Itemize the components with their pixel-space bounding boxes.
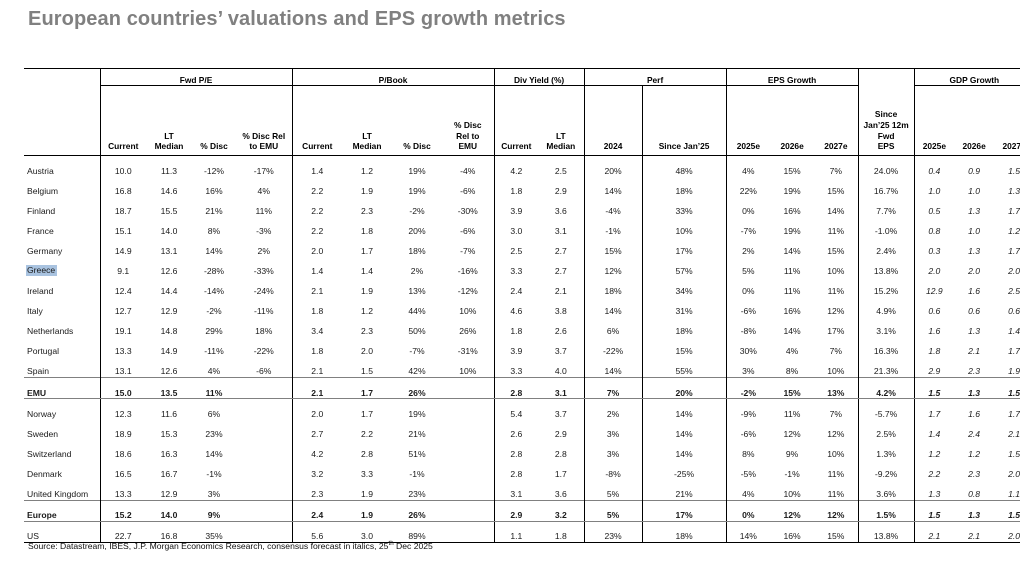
table-cell-perf_since_jan25[interactable]: 55% bbox=[642, 357, 726, 378]
table-cell-gdp_2027e[interactable]: 2.1 bbox=[994, 419, 1020, 439]
table-row[interactable]: Norway12.311.66%2.01.719%5.43.72%14%-9%1… bbox=[24, 399, 1020, 420]
table-cell-pe_current[interactable]: 13.3 bbox=[100, 480, 146, 501]
table-cell-perf_since_jan25[interactable]: 17% bbox=[642, 500, 726, 521]
table-cell-pb_disc[interactable]: 21% bbox=[392, 419, 442, 439]
table-cell-eps_2026e[interactable]: 16% bbox=[770, 297, 814, 317]
table-cell-eps_since_jan25_12m_fwd[interactable]: -1.0% bbox=[858, 216, 914, 236]
table-cell-pe_lt_median[interactable]: 12.9 bbox=[146, 480, 192, 501]
table-cell-perf_2024[interactable]: 3% bbox=[584, 439, 642, 459]
table-cell-gdp_2026e[interactable]: 1.3 bbox=[954, 500, 994, 521]
table-cell-pe_disc_rel_emu[interactable]: 2% bbox=[236, 236, 292, 256]
table-row[interactable]: Sweden18.915.323%2.72.221%2.62.93%14%-6%… bbox=[24, 419, 1020, 439]
table-cell-pb_disc[interactable]: 26% bbox=[392, 378, 442, 399]
table-cell-dy_lt_median[interactable]: 2.9 bbox=[538, 176, 584, 196]
table-cell-pb_current[interactable]: 2.1 bbox=[292, 357, 342, 378]
table-cell-pb_lt_median[interactable]: 1.8 bbox=[342, 216, 392, 236]
table-cell-eps_since_jan25_12m_fwd[interactable]: 1.5% bbox=[858, 500, 914, 521]
table-row[interactable]: Netherlands19.114.829%18%3.42.350%26%1.8… bbox=[24, 317, 1020, 337]
table-cell-pe_disc_rel_emu[interactable]: 18% bbox=[236, 317, 292, 337]
table-cell-gdp_2027e[interactable]: 1.7 bbox=[994, 337, 1020, 357]
table-cell-gdp_2025e[interactable]: 1.6 bbox=[914, 317, 954, 337]
table-cell-eps_2026e[interactable]: 16% bbox=[770, 521, 814, 542]
table-cell-gdp_2027e[interactable]: 1.1 bbox=[994, 480, 1020, 501]
table-cell-perf_2024[interactable]: 5% bbox=[584, 480, 642, 501]
table-cell-pe_disc[interactable]: -12% bbox=[192, 156, 236, 177]
table-cell-eps_2027e[interactable]: 7% bbox=[814, 156, 858, 177]
table-cell-pb_current[interactable]: 2.2 bbox=[292, 216, 342, 236]
table-cell-pb_current[interactable]: 1.4 bbox=[292, 156, 342, 177]
table-cell-pb_disc_rel_emu[interactable] bbox=[442, 378, 494, 399]
table-cell-eps_2027e[interactable]: 15% bbox=[814, 521, 858, 542]
table-cell-dy_current[interactable]: 4.6 bbox=[494, 297, 538, 317]
table-cell-dy_lt_median[interactable]: 2.8 bbox=[538, 439, 584, 459]
table-cell-pb_lt_median[interactable]: 1.5 bbox=[342, 357, 392, 378]
table-cell-eps_since_jan25_12m_fwd[interactable]: 2.5% bbox=[858, 419, 914, 439]
table-cell-gdp_2026e[interactable]: 2.3 bbox=[954, 459, 994, 479]
table-cell-gdp_2027e[interactable]: 2.0 bbox=[994, 459, 1020, 479]
table-row[interactable]: EMU15.013.511%2.11.726%2.83.17%20%-2%15%… bbox=[24, 378, 1020, 399]
table-cell-pe_current[interactable]: 13.1 bbox=[100, 357, 146, 378]
table-cell-gdp_2025e[interactable]: 0.3 bbox=[914, 236, 954, 256]
table-cell-pb_disc[interactable]: 51% bbox=[392, 439, 442, 459]
table-cell-pe_disc_rel_emu[interactable]: -17% bbox=[236, 156, 292, 177]
table-cell-dy_lt_median[interactable]: 1.8 bbox=[538, 521, 584, 542]
table-cell-pb_current[interactable]: 3.2 bbox=[292, 459, 342, 479]
table-cell-pe_disc_rel_emu[interactable] bbox=[236, 500, 292, 521]
table-cell-pe_disc[interactable]: 29% bbox=[192, 317, 236, 337]
table-cell-eps_2026e[interactable]: -1% bbox=[770, 459, 814, 479]
table-cell-pb_disc_rel_emu[interactable]: -31% bbox=[442, 337, 494, 357]
table-cell-eps_since_jan25_12m_fwd[interactable]: 16.7% bbox=[858, 176, 914, 196]
table-cell-gdp_2026e[interactable]: 0.6 bbox=[954, 297, 994, 317]
table-cell-pb_disc[interactable]: -2% bbox=[392, 196, 442, 216]
table-cell-gdp_2026e[interactable]: 1.0 bbox=[954, 216, 994, 236]
table-cell-gdp_2025e[interactable]: 1.5 bbox=[914, 378, 954, 399]
table-cell-dy_lt_median[interactable]: 3.1 bbox=[538, 216, 584, 236]
table-cell-eps_2027e[interactable]: 13% bbox=[814, 378, 858, 399]
table-cell-perf_2024[interactable]: 5% bbox=[584, 500, 642, 521]
table-cell-dy_current[interactable]: 2.5 bbox=[494, 236, 538, 256]
table-cell-eps_2025e[interactable]: -2% bbox=[726, 378, 770, 399]
table-cell-pb_disc[interactable]: 20% bbox=[392, 216, 442, 236]
table-cell-eps_since_jan25_12m_fwd[interactable]: 3.6% bbox=[858, 480, 914, 501]
table-cell-eps_2027e[interactable]: 11% bbox=[814, 459, 858, 479]
table-cell-pb_disc[interactable]: 50% bbox=[392, 317, 442, 337]
table-cell-pb_lt_median[interactable]: 1.9 bbox=[342, 176, 392, 196]
table-cell-dy_lt_median[interactable]: 2.5 bbox=[538, 156, 584, 177]
table-cell-pb_current[interactable]: 2.1 bbox=[292, 277, 342, 297]
table-cell-eps_2025e[interactable]: 4% bbox=[726, 156, 770, 177]
table-row[interactable]: Ireland12.414.4-14%-24%2.11.913%-12%2.42… bbox=[24, 277, 1020, 297]
table-cell-dy_current[interactable]: 5.4 bbox=[494, 399, 538, 420]
table-cell-pe_disc_rel_emu[interactable] bbox=[236, 439, 292, 459]
table-cell-pe_disc_rel_emu[interactable]: -22% bbox=[236, 337, 292, 357]
row-country-label[interactable]: EMU bbox=[24, 378, 100, 399]
table-cell-gdp_2025e[interactable]: 0.4 bbox=[914, 156, 954, 177]
table-cell-eps_2027e[interactable]: 11% bbox=[814, 216, 858, 236]
table-cell-gdp_2027e[interactable]: 2.5 bbox=[994, 277, 1020, 297]
table-row[interactable]: Germany14.913.114%2%2.01.718%-7%2.52.715… bbox=[24, 236, 1020, 256]
table-cell-pb_current[interactable]: 2.4 bbox=[292, 500, 342, 521]
table-cell-eps_2026e[interactable]: 12% bbox=[770, 419, 814, 439]
table-cell-gdp_2025e[interactable]: 1.3 bbox=[914, 480, 954, 501]
table-cell-pb_lt_median[interactable]: 1.4 bbox=[342, 256, 392, 276]
table-cell-gdp_2026e[interactable]: 2.1 bbox=[954, 337, 994, 357]
table-cell-pe_disc_rel_emu[interactable] bbox=[236, 419, 292, 439]
table-cell-pe_current[interactable]: 16.8 bbox=[100, 176, 146, 196]
table-cell-eps_2025e[interactable]: 0% bbox=[726, 277, 770, 297]
table-cell-pb_current[interactable]: 3.4 bbox=[292, 317, 342, 337]
table-cell-dy_current[interactable]: 3.3 bbox=[494, 357, 538, 378]
table-cell-dy_current[interactable]: 2.8 bbox=[494, 459, 538, 479]
table-cell-eps_2025e[interactable]: 14% bbox=[726, 521, 770, 542]
table-cell-gdp_2025e[interactable]: 1.5 bbox=[914, 500, 954, 521]
table-cell-eps_2027e[interactable]: 10% bbox=[814, 256, 858, 276]
table-cell-perf_2024[interactable]: 23% bbox=[584, 521, 642, 542]
table-cell-dy_current[interactable]: 1.8 bbox=[494, 317, 538, 337]
table-cell-pb_lt_median[interactable]: 1.9 bbox=[342, 277, 392, 297]
table-cell-gdp_2025e[interactable]: 0.8 bbox=[914, 216, 954, 236]
table-cell-pb_lt_median[interactable]: 1.9 bbox=[342, 480, 392, 501]
table-cell-dy_current[interactable]: 2.8 bbox=[494, 439, 538, 459]
table-cell-gdp_2025e[interactable]: 1.4 bbox=[914, 419, 954, 439]
table-cell-pb_disc[interactable]: 2% bbox=[392, 256, 442, 276]
table-cell-pe_lt_median[interactable]: 12.6 bbox=[146, 357, 192, 378]
table-cell-pb_disc_rel_emu[interactable] bbox=[442, 521, 494, 542]
table-cell-eps_2025e[interactable]: -5% bbox=[726, 459, 770, 479]
table-cell-gdp_2027e[interactable]: 1.7 bbox=[994, 399, 1020, 420]
table-cell-gdp_2027e[interactable]: 2.0 bbox=[994, 521, 1020, 542]
table-cell-pe_disc[interactable]: 23% bbox=[192, 419, 236, 439]
table-cell-eps_since_jan25_12m_fwd[interactable]: -9.2% bbox=[858, 459, 914, 479]
table-cell-pe_disc_rel_emu[interactable] bbox=[236, 399, 292, 420]
table-cell-eps_2026e[interactable]: 14% bbox=[770, 236, 814, 256]
table-cell-pe_disc[interactable]: -11% bbox=[192, 337, 236, 357]
table-cell-gdp_2026e[interactable]: 2.1 bbox=[954, 521, 994, 542]
table-cell-gdp_2027e[interactable]: 1.5 bbox=[994, 156, 1020, 177]
table-cell-pb_current[interactable]: 1.8 bbox=[292, 297, 342, 317]
table-cell-pb_disc_rel_emu[interactable]: -7% bbox=[442, 236, 494, 256]
table-cell-perf_2024[interactable]: 20% bbox=[584, 156, 642, 177]
table-cell-eps_2026e[interactable]: 9% bbox=[770, 439, 814, 459]
table-cell-gdp_2026e[interactable]: 1.6 bbox=[954, 399, 994, 420]
table-cell-gdp_2026e[interactable]: 1.3 bbox=[954, 196, 994, 216]
selected-cell-highlight[interactable]: Greece bbox=[26, 265, 57, 276]
table-cell-eps_2025e[interactable]: 22% bbox=[726, 176, 770, 196]
table-cell-pe_disc[interactable]: -2% bbox=[192, 297, 236, 317]
table-cell-perf_2024[interactable]: 2% bbox=[584, 399, 642, 420]
table-cell-dy_current[interactable]: 3.1 bbox=[494, 480, 538, 501]
row-country-label[interactable]: Austria bbox=[24, 156, 100, 177]
table-cell-perf_since_jan25[interactable]: -25% bbox=[642, 459, 726, 479]
table-cell-pe_current[interactable]: 12.3 bbox=[100, 399, 146, 420]
table-row[interactable]: Belgium16.814.616%4%2.21.919%-6%1.82.914… bbox=[24, 176, 1020, 196]
table-cell-dy_current[interactable]: 2.4 bbox=[494, 277, 538, 297]
table-cell-gdp_2026e[interactable]: 1.2 bbox=[954, 439, 994, 459]
table-cell-pe_lt_median[interactable]: 14.6 bbox=[146, 176, 192, 196]
table-cell-eps_2025e[interactable]: -6% bbox=[726, 419, 770, 439]
table-cell-eps_2027e[interactable]: 11% bbox=[814, 480, 858, 501]
table-cell-perf_2024[interactable]: 18% bbox=[584, 277, 642, 297]
table-cell-pe_disc[interactable]: 14% bbox=[192, 439, 236, 459]
table-cell-gdp_2025e[interactable]: 12.9 bbox=[914, 277, 954, 297]
table-cell-pe_lt_median[interactable]: 11.6 bbox=[146, 399, 192, 420]
table-cell-eps_since_jan25_12m_fwd[interactable]: 13.8% bbox=[858, 521, 914, 542]
table-cell-pb_disc[interactable]: 44% bbox=[392, 297, 442, 317]
row-country-label[interactable]: Netherlands bbox=[24, 317, 100, 337]
table-cell-pb_current[interactable]: 2.1 bbox=[292, 378, 342, 399]
table-cell-perf_2024[interactable]: -22% bbox=[584, 337, 642, 357]
table-cell-pe_lt_median[interactable]: 11.3 bbox=[146, 156, 192, 177]
table-cell-pb_disc[interactable]: 19% bbox=[392, 399, 442, 420]
table-cell-pb_disc[interactable]: 18% bbox=[392, 236, 442, 256]
table-cell-perf_since_jan25[interactable]: 18% bbox=[642, 176, 726, 196]
table-cell-dy_current[interactable]: 3.0 bbox=[494, 216, 538, 236]
table-cell-pb_current[interactable]: 1.8 bbox=[292, 337, 342, 357]
table-cell-eps_2025e[interactable]: -8% bbox=[726, 317, 770, 337]
table-cell-pb_disc_rel_emu[interactable]: 26% bbox=[442, 317, 494, 337]
table-cell-dy_lt_median[interactable]: 2.7 bbox=[538, 256, 584, 276]
table-cell-pe_current[interactable]: 10.0 bbox=[100, 156, 146, 177]
table-cell-eps_2027e[interactable]: 12% bbox=[814, 419, 858, 439]
table-cell-eps_since_jan25_12m_fwd[interactable]: 13.8% bbox=[858, 256, 914, 276]
table-cell-gdp_2027e[interactable]: 1.9 bbox=[994, 357, 1020, 378]
table-cell-pb_disc_rel_emu[interactable]: 10% bbox=[442, 357, 494, 378]
table-row[interactable]: Europe15.214.09%2.41.926%2.93.25%17%0%12… bbox=[24, 500, 1020, 521]
row-country-label[interactable]: Sweden bbox=[24, 419, 100, 439]
table-cell-perf_since_jan25[interactable]: 20% bbox=[642, 378, 726, 399]
table-cell-perf_since_jan25[interactable]: 14% bbox=[642, 439, 726, 459]
table-cell-perf_since_jan25[interactable]: 48% bbox=[642, 156, 726, 177]
table-cell-dy_current[interactable]: 2.9 bbox=[494, 500, 538, 521]
table-cell-perf_since_jan25[interactable]: 14% bbox=[642, 419, 726, 439]
table-cell-pb_lt_median[interactable]: 2.0 bbox=[342, 337, 392, 357]
table-cell-pe_lt_median[interactable]: 16.3 bbox=[146, 439, 192, 459]
table-cell-pb_lt_median[interactable]: 1.2 bbox=[342, 297, 392, 317]
table-cell-pe_lt_median[interactable]: 15.3 bbox=[146, 419, 192, 439]
row-country-label[interactable]: France bbox=[24, 216, 100, 236]
table-cell-dy_lt_median[interactable]: 2.9 bbox=[538, 419, 584, 439]
table-cell-pe_disc_rel_emu[interactable] bbox=[236, 378, 292, 399]
table-cell-pb_current[interactable]: 2.3 bbox=[292, 480, 342, 501]
table-cell-gdp_2026e[interactable]: 1.3 bbox=[954, 317, 994, 337]
table-cell-pb_disc[interactable]: 13% bbox=[392, 277, 442, 297]
table-cell-eps_2025e[interactable]: -6% bbox=[726, 297, 770, 317]
table-cell-gdp_2026e[interactable]: 0.9 bbox=[954, 156, 994, 177]
table-cell-eps_since_jan25_12m_fwd[interactable]: 24.0% bbox=[858, 156, 914, 177]
table-cell-pb_current[interactable]: 1.4 bbox=[292, 256, 342, 276]
table-cell-eps_since_jan25_12m_fwd[interactable]: 15.2% bbox=[858, 277, 914, 297]
table-cell-pe_disc[interactable]: 9% bbox=[192, 500, 236, 521]
table-cell-gdp_2027e[interactable]: 1.7 bbox=[994, 236, 1020, 256]
row-country-label[interactable]: Germany bbox=[24, 236, 100, 256]
table-cell-perf_2024[interactable]: 14% bbox=[584, 357, 642, 378]
table-cell-dy_lt_median[interactable]: 3.7 bbox=[538, 399, 584, 420]
table-cell-gdp_2026e[interactable]: 1.6 bbox=[954, 277, 994, 297]
row-country-label[interactable]: Portugal bbox=[24, 337, 100, 357]
table-cell-pb_disc_rel_emu[interactable]: -4% bbox=[442, 156, 494, 177]
table-cell-dy_lt_median[interactable]: 3.2 bbox=[538, 500, 584, 521]
table-cell-pb_current[interactable]: 2.0 bbox=[292, 236, 342, 256]
table-cell-dy_lt_median[interactable]: 2.7 bbox=[538, 236, 584, 256]
table-cell-eps_2027e[interactable]: 7% bbox=[814, 399, 858, 420]
table-cell-gdp_2027e[interactable]: 2.0 bbox=[994, 256, 1020, 276]
table-cell-gdp_2026e[interactable]: 2.4 bbox=[954, 419, 994, 439]
table-cell-pb_disc[interactable]: -7% bbox=[392, 337, 442, 357]
table-cell-pe_disc[interactable]: 4% bbox=[192, 357, 236, 378]
table-cell-pb_disc[interactable]: 19% bbox=[392, 176, 442, 196]
table-cell-dy_lt_median[interactable]: 2.6 bbox=[538, 317, 584, 337]
table-cell-dy_current[interactable]: 3.9 bbox=[494, 196, 538, 216]
table-cell-pe_disc[interactable]: 11% bbox=[192, 378, 236, 399]
table-cell-gdp_2027e[interactable]: 1.5 bbox=[994, 378, 1020, 399]
table-cell-pe_disc_rel_emu[interactable]: 4% bbox=[236, 176, 292, 196]
table-cell-pb_disc[interactable]: 26% bbox=[392, 500, 442, 521]
table-cell-pb_lt_median[interactable]: 1.9 bbox=[342, 500, 392, 521]
table-cell-gdp_2025e[interactable]: 0.5 bbox=[914, 196, 954, 216]
table-cell-perf_since_jan25[interactable]: 31% bbox=[642, 297, 726, 317]
table-cell-eps_2025e[interactable]: -7% bbox=[726, 216, 770, 236]
table-cell-eps_2026e[interactable]: 12% bbox=[770, 500, 814, 521]
table-cell-pb_disc_rel_emu[interactable]: -6% bbox=[442, 176, 494, 196]
table-cell-gdp_2025e[interactable]: 1.0 bbox=[914, 176, 954, 196]
table-cell-eps_2027e[interactable]: 7% bbox=[814, 337, 858, 357]
table-cell-pe_disc_rel_emu[interactable]: -6% bbox=[236, 357, 292, 378]
table-cell-eps_2026e[interactable]: 8% bbox=[770, 357, 814, 378]
table-cell-perf_2024[interactable]: 14% bbox=[584, 297, 642, 317]
table-cell-pb_disc[interactable]: 42% bbox=[392, 357, 442, 378]
table-cell-perf_2024[interactable]: 14% bbox=[584, 176, 642, 196]
table-cell-perf_since_jan25[interactable]: 57% bbox=[642, 256, 726, 276]
table-row[interactable]: Austria10.011.3-12%-17%1.41.219%-4%4.22.… bbox=[24, 156, 1020, 177]
table-cell-eps_2026e[interactable]: 14% bbox=[770, 317, 814, 337]
table-cell-gdp_2027e[interactable]: 1.5 bbox=[994, 439, 1020, 459]
table-cell-eps_2027e[interactable]: 15% bbox=[814, 176, 858, 196]
row-country-label[interactable]: Denmark bbox=[24, 459, 100, 479]
table-cell-perf_since_jan25[interactable]: 18% bbox=[642, 521, 726, 542]
table-row[interactable]: Portugal13.314.9-11%-22%1.82.0-7%-31%3.9… bbox=[24, 337, 1020, 357]
table-cell-eps_2025e[interactable]: 4% bbox=[726, 480, 770, 501]
table-cell-dy_current[interactable]: 1.1 bbox=[494, 521, 538, 542]
table-cell-pb_lt_median[interactable]: 1.7 bbox=[342, 378, 392, 399]
table-cell-gdp_2027e[interactable]: 1.2 bbox=[994, 216, 1020, 236]
table-cell-pe_lt_median[interactable]: 16.7 bbox=[146, 459, 192, 479]
table-cell-eps_2027e[interactable]: 10% bbox=[814, 439, 858, 459]
table-cell-perf_2024[interactable]: 15% bbox=[584, 236, 642, 256]
table-cell-pe_current[interactable]: 14.9 bbox=[100, 236, 146, 256]
table-cell-gdp_2025e[interactable]: 2.2 bbox=[914, 459, 954, 479]
table-cell-pe_current[interactable]: 9.1 bbox=[100, 256, 146, 276]
table-cell-gdp_2027e[interactable]: 1.7 bbox=[994, 196, 1020, 216]
table-cell-eps_2025e[interactable]: 0% bbox=[726, 500, 770, 521]
row-country-label[interactable]: Europe bbox=[24, 500, 100, 521]
table-cell-perf_2024[interactable]: -4% bbox=[584, 196, 642, 216]
table-cell-pe_disc_rel_emu[interactable] bbox=[236, 480, 292, 501]
table-cell-gdp_2026e[interactable]: 2.3 bbox=[954, 357, 994, 378]
table-cell-gdp_2026e[interactable]: 0.8 bbox=[954, 480, 994, 501]
table-cell-perf_since_jan25[interactable]: 18% bbox=[642, 317, 726, 337]
table-cell-pb_lt_median[interactable]: 2.3 bbox=[342, 317, 392, 337]
table-cell-eps_2025e[interactable]: 3% bbox=[726, 357, 770, 378]
table-cell-eps_2026e[interactable]: 11% bbox=[770, 399, 814, 420]
table-cell-dy_current[interactable]: 1.8 bbox=[494, 176, 538, 196]
table-cell-perf_2024[interactable]: 12% bbox=[584, 256, 642, 276]
table-cell-pe_lt_median[interactable]: 14.0 bbox=[146, 500, 192, 521]
table-cell-pe_current[interactable]: 12.4 bbox=[100, 277, 146, 297]
table-cell-pb_disc_rel_emu[interactable] bbox=[442, 459, 494, 479]
row-country-label[interactable]: Ireland bbox=[24, 277, 100, 297]
table-cell-pb_disc[interactable]: 23% bbox=[392, 480, 442, 501]
table-cell-eps_2026e[interactable]: 16% bbox=[770, 196, 814, 216]
table-cell-eps_2026e[interactable]: 10% bbox=[770, 480, 814, 501]
table-cell-eps_since_jan25_12m_fwd[interactable]: 7.7% bbox=[858, 196, 914, 216]
table-cell-dy_lt_median[interactable]: 2.1 bbox=[538, 277, 584, 297]
table-cell-eps_2026e[interactable]: 15% bbox=[770, 378, 814, 399]
table-cell-pb_current[interactable]: 2.0 bbox=[292, 399, 342, 420]
table-cell-eps_since_jan25_12m_fwd[interactable]: 16.3% bbox=[858, 337, 914, 357]
table-cell-perf_since_jan25[interactable]: 10% bbox=[642, 216, 726, 236]
table-cell-pb_lt_median[interactable]: 2.2 bbox=[342, 419, 392, 439]
table-cell-eps_2026e[interactable]: 15% bbox=[770, 156, 814, 177]
table-cell-eps_2025e[interactable]: 2% bbox=[726, 236, 770, 256]
table-cell-pe_current[interactable]: 15.2 bbox=[100, 500, 146, 521]
table-cell-eps_since_jan25_12m_fwd[interactable]: 3.1% bbox=[858, 317, 914, 337]
row-country-label[interactable]: Switzerland bbox=[24, 439, 100, 459]
table-cell-eps_2026e[interactable]: 19% bbox=[770, 176, 814, 196]
table-row[interactable]: Switzerland18.616.314%4.22.851%2.82.83%1… bbox=[24, 439, 1020, 459]
table-cell-dy_current[interactable]: 2.6 bbox=[494, 419, 538, 439]
table-cell-pe_lt_median[interactable]: 14.4 bbox=[146, 277, 192, 297]
table-cell-pb_disc[interactable]: -1% bbox=[392, 459, 442, 479]
table-cell-pe_disc[interactable]: 14% bbox=[192, 236, 236, 256]
table-cell-pe_current[interactable]: 12.7 bbox=[100, 297, 146, 317]
table-cell-pb_disc[interactable]: 19% bbox=[392, 156, 442, 177]
table-cell-dy_current[interactable]: 3.9 bbox=[494, 337, 538, 357]
table-cell-pe_lt_median[interactable]: 13.1 bbox=[146, 236, 192, 256]
table-cell-pe_disc_rel_emu[interactable]: -24% bbox=[236, 277, 292, 297]
row-country-label[interactable]: Italy bbox=[24, 297, 100, 317]
table-cell-eps_since_jan25_12m_fwd[interactable]: 1.3% bbox=[858, 439, 914, 459]
table-cell-pb_current[interactable]: 2.2 bbox=[292, 176, 342, 196]
table-cell-eps_2026e[interactable]: 11% bbox=[770, 256, 814, 276]
table-cell-eps_2025e[interactable]: 0% bbox=[726, 196, 770, 216]
row-country-label[interactable]: Spain bbox=[24, 357, 100, 378]
table-cell-eps_2026e[interactable]: 4% bbox=[770, 337, 814, 357]
table-cell-eps_2027e[interactable]: 15% bbox=[814, 236, 858, 256]
table-cell-gdp_2025e[interactable]: 1.2 bbox=[914, 439, 954, 459]
table-cell-pe_disc[interactable]: -1% bbox=[192, 459, 236, 479]
table-cell-pe_lt_median[interactable]: 12.9 bbox=[146, 297, 192, 317]
table-cell-pe_disc[interactable]: 6% bbox=[192, 399, 236, 420]
table-cell-eps_since_jan25_12m_fwd[interactable]: 21.3% bbox=[858, 357, 914, 378]
table-cell-pb_lt_median[interactable]: 1.2 bbox=[342, 156, 392, 177]
table-row[interactable]: Italy12.712.9-2%-11%1.81.244%10%4.63.814… bbox=[24, 297, 1020, 317]
table-cell-pe_current[interactable]: 16.5 bbox=[100, 459, 146, 479]
table-cell-pe_lt_median[interactable]: 14.9 bbox=[146, 337, 192, 357]
table-cell-eps_2025e[interactable]: 30% bbox=[726, 337, 770, 357]
table-cell-dy_lt_median[interactable]: 3.1 bbox=[538, 378, 584, 399]
table-cell-dy_current[interactable]: 3.3 bbox=[494, 256, 538, 276]
table-cell-eps_2027e[interactable]: 12% bbox=[814, 297, 858, 317]
table-cell-perf_2024[interactable]: 7% bbox=[584, 378, 642, 399]
table-cell-dy_current[interactable]: 4.2 bbox=[494, 156, 538, 177]
table-cell-gdp_2027e[interactable]: 0.6 bbox=[994, 297, 1020, 317]
table-cell-eps_2027e[interactable]: 12% bbox=[814, 500, 858, 521]
table-cell-dy_lt_median[interactable]: 3.8 bbox=[538, 297, 584, 317]
table-cell-pb_disc_rel_emu[interactable]: -16% bbox=[442, 256, 494, 276]
row-country-label[interactable]: Norway bbox=[24, 399, 100, 420]
table-cell-perf_2024[interactable]: 3% bbox=[584, 419, 642, 439]
